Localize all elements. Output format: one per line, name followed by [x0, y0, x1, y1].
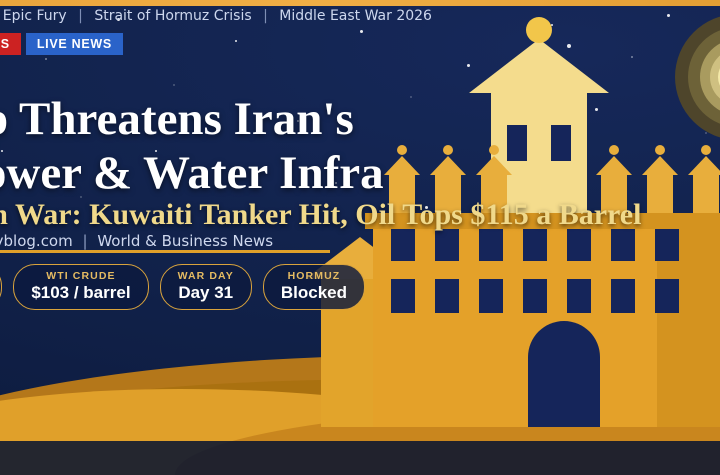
stat-pill-wti-crude[interactable]: WTI CRUDE $103 / barrel [13, 264, 148, 310]
byline: March 2026 | layblog.com | World & Busin… [0, 232, 273, 250]
byline-site[interactable]: layblog.com [0, 232, 73, 250]
tag-strip [0, 441, 720, 475]
stat-value: Blocked [281, 283, 347, 303]
banner-canvas: BREAKING NEWS LIVE NEWS Trump Threatens … [0, 0, 720, 475]
byline-separator-2: | [78, 232, 93, 250]
subheadline: Israel-Iran War: Kuwaiti Tanker Hit, Oil… [0, 198, 720, 232]
headline: Trump Threatens Iran's Oil, Power & Wate… [0, 92, 668, 200]
news-banner: BREAKING NEWS LIVE NEWS Trump Threatens … [0, 0, 720, 475]
tag-item-3[interactable]: Middle East War 2026 [279, 8, 432, 24]
tag-separator-1: | [71, 8, 90, 24]
stat-pill-oil-price[interactable]: OIL PRICE $115 / barrel [0, 264, 2, 310]
badge-group: BREAKING NEWS LIVE NEWS [0, 27, 123, 55]
gold-divider [0, 250, 330, 253]
tag-separator-2: | [256, 8, 275, 24]
stat-pill-hormuz[interactable]: HORMUZ Blocked [263, 264, 365, 310]
tag-item-1[interactable]: Israeli Operation Epic Fury [0, 8, 67, 24]
badge-breaking-news[interactable]: BREAKING NEWS [0, 33, 21, 55]
banner-content: BREAKING NEWS LIVE NEWS Trump Threatens … [0, 0, 720, 475]
stat-pill-group: OIL PRICE $115 / barrel WTI CRUDE $103 /… [0, 264, 365, 310]
stat-label: WTI CRUDE [31, 270, 130, 282]
stat-value: Day 31 [178, 283, 234, 303]
stat-label: HORMUZ [281, 270, 347, 282]
tag-list: Israeli Operation Epic Fury | Strait of … [0, 8, 432, 24]
stat-pill-war-day[interactable]: WAR DAY Day 31 [160, 264, 252, 310]
byline-section: World & Business News [97, 232, 273, 250]
stat-label: WAR DAY [178, 270, 234, 282]
headline-line-2: Oil, Power & Water Infra [0, 146, 668, 200]
badge-live-news[interactable]: LIVE NEWS [26, 33, 123, 55]
tag-item-2[interactable]: Strait of Hormuz Crisis [94, 8, 251, 24]
headline-line-1: Trump Threatens Iran's [0, 93, 354, 145]
top-accent-bar [0, 0, 720, 6]
stat-value: $103 / barrel [31, 283, 130, 303]
